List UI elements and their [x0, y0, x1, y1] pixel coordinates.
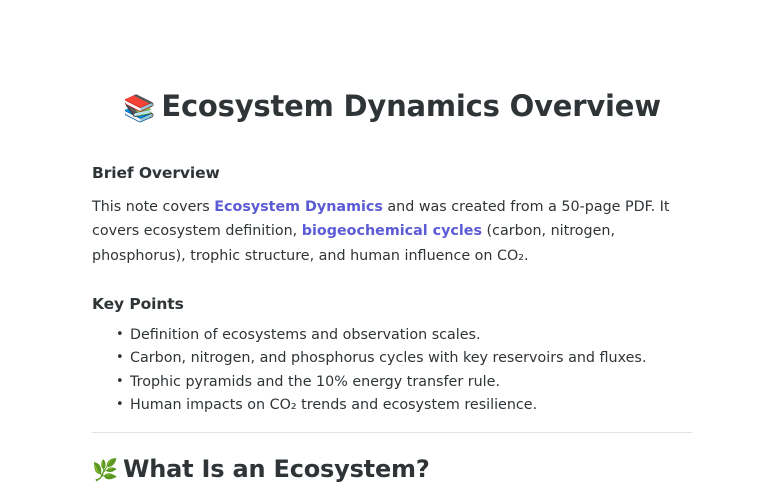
section-heading-key-points: Key Points [92, 295, 692, 313]
section-heading-brief-overview: Brief Overview [92, 164, 692, 182]
key-points-list: Definition of ecosystems and observation… [92, 324, 692, 417]
link-ecosystem-dynamics[interactable]: Ecosystem Dynamics [214, 199, 383, 215]
link-biogeochemical-cycles[interactable]: biogeochemical cycles [302, 223, 482, 239]
books-icon: 📚 [123, 94, 155, 124]
section-divider [92, 432, 692, 433]
list-item: Definition of ecosystems and observation… [130, 324, 692, 347]
big-heading-text: What Is an Ecosystem? [123, 455, 430, 483]
list-item: Human impacts on CO₂ trends and ecosyste… [130, 394, 692, 417]
paragraph-text-part1: This note covers [92, 199, 214, 215]
herb-icon: 🌿 [92, 458, 118, 482]
page-title: 📚Ecosystem Dynamics Overview [92, 0, 692, 126]
document-page: 📚Ecosystem Dynamics Overview Brief Overv… [0, 0, 784, 441]
brief-overview-paragraph: This note covers Ecosystem Dynamics and … [92, 195, 692, 269]
page-title-text: Ecosystem Dynamics Overview [161, 89, 661, 123]
list-item: Trophic pyramids and the 10% energy tran… [130, 371, 692, 394]
list-item: Carbon, nitrogen, and phosphorus cycles … [130, 347, 692, 370]
section-heading-what-is-an-ecosystem: 🌿What Is an Ecosystem? [92, 455, 692, 483]
